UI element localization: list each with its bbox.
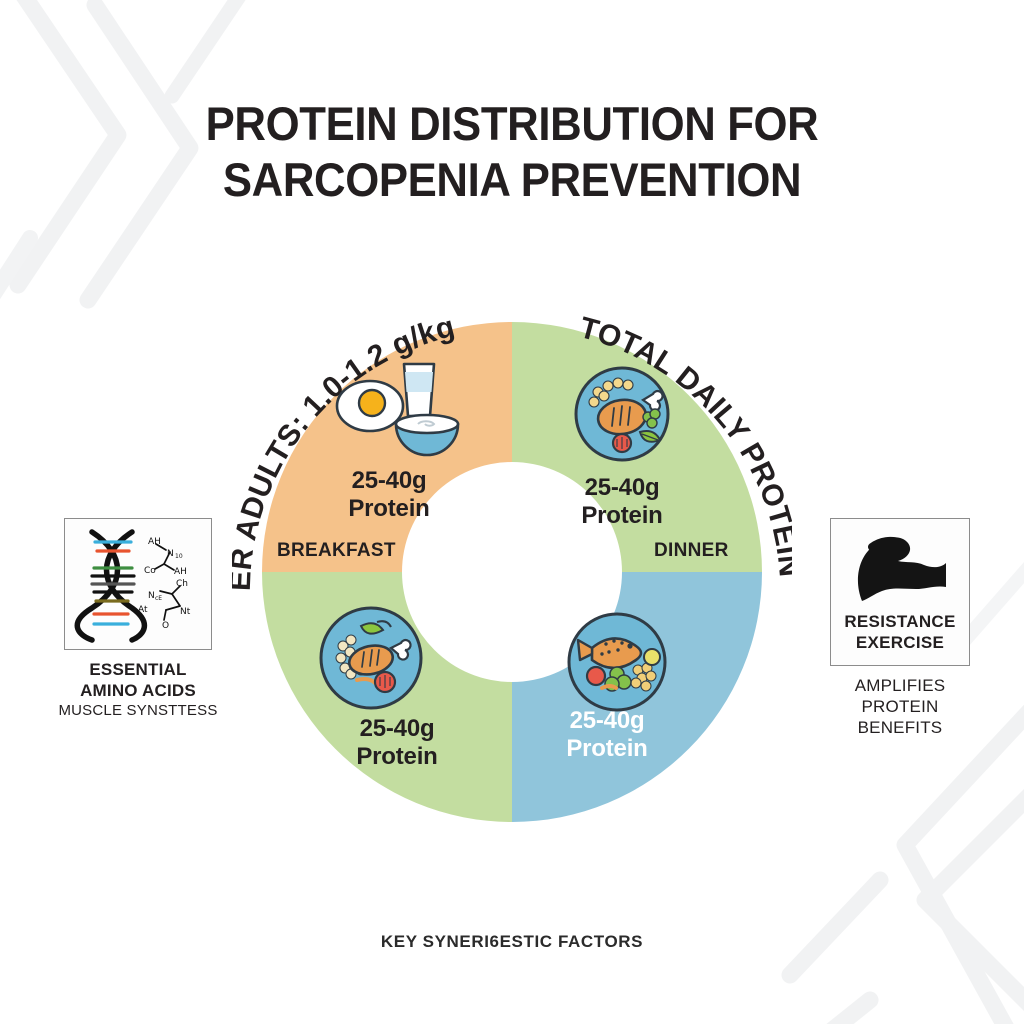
- breakfast-plate-icon: [330, 356, 466, 460]
- dinner-amount: 25-40g: [547, 474, 697, 502]
- title-line-2: SARCOPENIA PREVENTION: [36, 152, 988, 208]
- svg-text:Ch: Ch: [176, 579, 188, 589]
- segment-amount-evening: 25-40g Protein: [532, 707, 682, 763]
- svg-text:AH: AH: [148, 537, 161, 547]
- dinner-amount-unit: Protein: [547, 502, 697, 530]
- evening-amount-unit: Protein: [532, 735, 682, 763]
- dna-helix-icon: AH N10 Co AH Ch NcE At Nt O: [70, 524, 206, 644]
- page-title: PROTEIN DISTRIBUTION FOR SARCOPENIA PREV…: [0, 96, 1024, 208]
- svg-text:N: N: [148, 591, 155, 601]
- segment-amount-breakfast: 25-40g Protein: [314, 467, 464, 523]
- svg-text:cE: cE: [155, 595, 162, 602]
- bicep-panel-box: RESISTANCE EXERCISE: [830, 518, 970, 666]
- svg-text:N: N: [167, 549, 174, 559]
- right-panel-caption-line2: PROTEIN BENEFITS: [858, 697, 943, 737]
- evening-amount: 25-40g: [532, 707, 682, 735]
- right-panel-caption-line1: AMPLIFIES: [855, 676, 946, 695]
- left-panel-title-line2: AMINO ACIDS: [80, 681, 196, 700]
- svg-text:Co: Co: [144, 566, 156, 576]
- footer-caption: KEY SYNERI6ESTIC FACTORS: [0, 932, 1024, 952]
- svg-text:10: 10: [175, 553, 183, 560]
- right-panel-title-line1: RESISTANCE: [844, 612, 955, 631]
- left-panel-title-line1: ESSENTIAL: [89, 660, 186, 679]
- svg-text:AH: AH: [174, 567, 187, 577]
- right-panel-title-line2: EXERCISE: [856, 633, 944, 652]
- roast-chicken-plate-icon: [572, 364, 672, 464]
- resistance-exercise-panel[interactable]: RESISTANCE EXERCISE AMPLIFIES PROTEIN BE…: [823, 518, 977, 738]
- flexed-bicep-icon: [848, 531, 952, 605]
- protein-distribution-donut-chart: OLDER ADULTS: 1.0-1.2 g/kg/day TOTAL DAI…: [232, 292, 792, 852]
- svg-text:Nt: Nt: [180, 607, 191, 617]
- chicken-leg-plate-icon: [317, 604, 425, 712]
- fish-plate-icon: [562, 610, 672, 714]
- lunch-amount-unit: Protein: [322, 743, 472, 771]
- resistance-exercise-title: RESISTANCE EXERCISE: [844, 611, 955, 653]
- svg-text:At: At: [138, 605, 148, 615]
- segment-amount-lunch: 25-40g Protein: [322, 715, 472, 771]
- title-line-1: PROTEIN DISTRIBUTION FOR: [36, 96, 988, 152]
- svg-text:O: O: [162, 621, 169, 631]
- essential-amino-acids-panel[interactable]: AH N10 Co AH Ch NcE At Nt O ESSENTIAL AM…: [58, 518, 218, 720]
- dna-panel-box: AH N10 Co AH Ch NcE At Nt O: [64, 518, 212, 650]
- donut-svg: OLDER ADULTS: 1.0-1.2 g/kg/day TOTAL DAI…: [232, 292, 792, 852]
- breakfast-amount-unit: Protein: [314, 495, 464, 523]
- essential-amino-acids-caption: ESSENTIAL AMINO ACIDS MUSCLE SYNSTTESS: [58, 659, 218, 720]
- meal-label-dinner: DINNER: [654, 540, 729, 562]
- segment-amount-dinner: 25-40g Protein: [547, 474, 697, 530]
- lunch-amount: 25-40g: [322, 715, 472, 743]
- resistance-exercise-caption: AMPLIFIES PROTEIN BENEFITS: [823, 675, 977, 738]
- meal-label-breakfast: BREAKFAST: [277, 540, 396, 562]
- left-panel-subtitle: MUSCLE SYNSTTESS: [58, 701, 218, 720]
- breakfast-amount: 25-40g: [314, 467, 464, 495]
